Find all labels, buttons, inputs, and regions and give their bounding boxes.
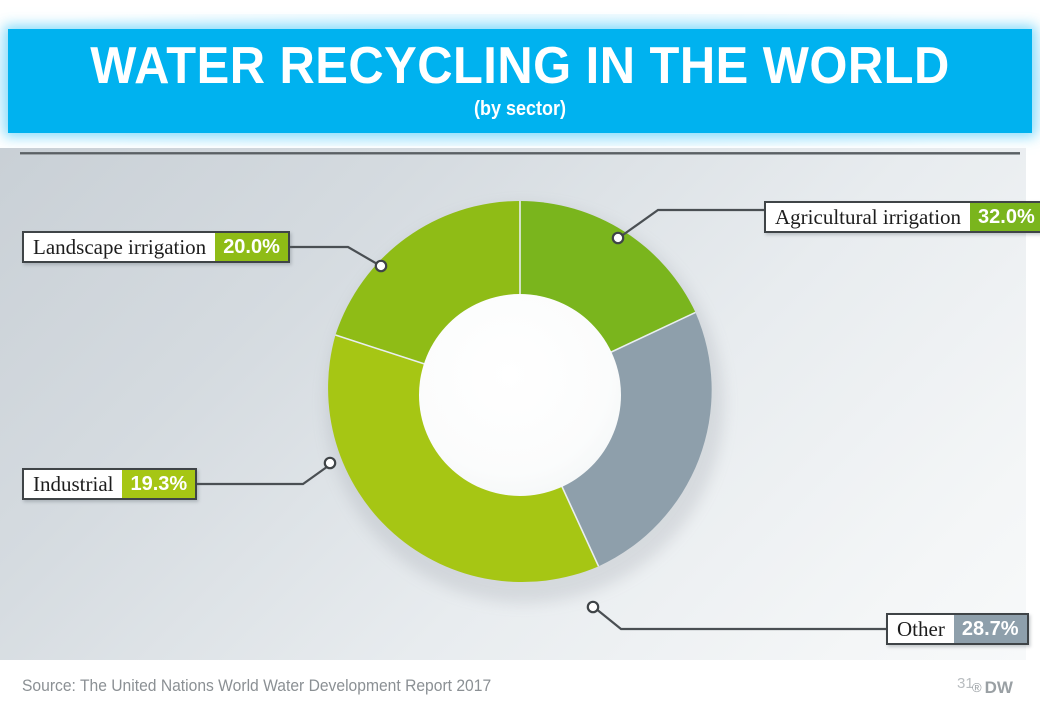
- callout-industrial[interactable]: Industrial 19.3%: [22, 468, 197, 500]
- callout-agricultural-irrigation[interactable]: Agricultural irrigation 32.0%: [764, 201, 1040, 233]
- source-note: Source: The United Nations World Water D…: [22, 676, 491, 696]
- callout-label: Agricultural irrigation: [766, 203, 970, 231]
- registered-trademark-icon: ®: [972, 678, 982, 697]
- dw-logo-text: DW: [985, 678, 1013, 697]
- callout-value: 19.3%: [122, 470, 195, 498]
- donut-chart: [320, 195, 730, 605]
- donut-svg: [320, 195, 720, 595]
- dw-logo: ® DW: [972, 678, 1013, 697]
- callout-label: Landscape irrigation: [24, 233, 215, 261]
- donut-hole: [419, 294, 621, 496]
- callout-label: Other: [888, 615, 954, 643]
- page-subtitle: (by sector): [59, 97, 981, 121]
- callout-landscape-irrigation[interactable]: Landscape irrigation 20.0%: [22, 231, 290, 263]
- slide-canvas: WATER RECYCLING IN THE WORLD (by sector): [0, 0, 1040, 720]
- callout-value: 20.0%: [215, 233, 288, 261]
- page-title: WATER RECYCLING IN THE WORLD: [39, 37, 1002, 95]
- callout-value: 32.0%: [970, 203, 1040, 231]
- title-banner: WATER RECYCLING IN THE WORLD (by sector): [8, 29, 1032, 133]
- callout-value: 28.7%: [954, 615, 1027, 643]
- callout-other[interactable]: Other 28.7%: [886, 613, 1029, 645]
- callout-label: Industrial: [24, 470, 122, 498]
- header-divider-rule: [20, 152, 1020, 155]
